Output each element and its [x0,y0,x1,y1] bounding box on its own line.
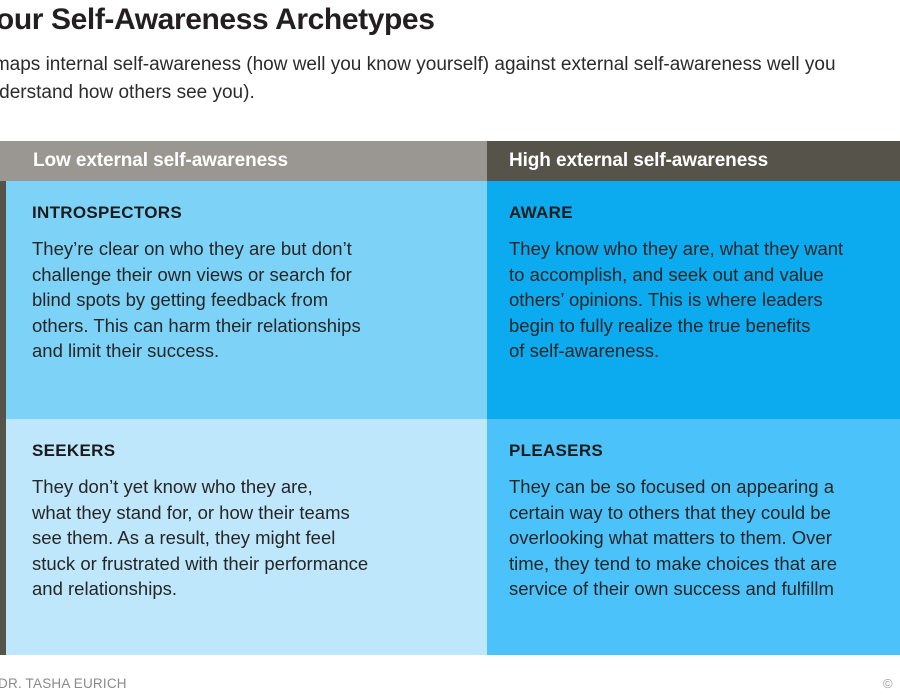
quadrant-pleasers-body: They can be so focused on appearing a ce… [509,474,900,602]
column-header-low-external-label: Low external self-awareness [0,150,288,172]
quadrant-introspectors-body: They’re clear on who they are but don’t … [32,236,467,364]
quadrant-introspectors-content: INTROSPECTORS They’re clear on who they … [6,181,487,364]
quadrant-aware-body: They know who they are, what they want t… [509,236,900,364]
column-header-high-external: High external self-awareness [487,141,900,181]
quadrant-seekers-content: SEEKERS They don’t yet know who they are… [6,419,487,602]
quadrant-pleasers: PLEASERS They can be so focused on appea… [487,419,900,655]
column-header-low-external: Low external self-awareness [0,141,487,181]
quadrant-introspectors: INTROSPECTORS They’re clear on who they … [6,181,487,419]
footer: DR. TASHA EURICH © [0,676,900,700]
quadrant-introspectors-title: INTROSPECTORS [32,203,467,223]
quadrant-aware-title: AWARE [509,203,900,223]
quadrant-seekers-body: They don’t yet know who they are, what t… [32,474,467,602]
source-credit: DR. TASHA EURICH [0,676,127,691]
quadrant-aware-content: AWARE They know who they are, what they … [487,181,900,364]
page-title: Four Self-Awareness Archetypes [0,0,900,37]
quadrant-pleasers-content: PLEASERS They can be so focused on appea… [487,419,900,602]
self-awareness-matrix: Low external self-awareness High externa… [0,141,900,655]
quadrant-seekers: SEEKERS They don’t yet know who they are… [6,419,487,655]
quadrant-seekers-title: SEEKERS [32,441,467,461]
column-header-row: Low external self-awareness High externa… [0,141,900,181]
column-header-high-external-label: High external self-awareness [487,150,768,172]
copyright-icon: © [883,676,893,691]
header-block: Four Self-Awareness Archetypes 2 maps in… [0,0,900,107]
quadrant-aware: AWARE They know who they are, what they … [487,181,900,419]
page-subtitle: 2 maps internal self-awareness (how well… [0,37,900,107]
quadrant-pleasers-title: PLEASERS [509,441,900,461]
